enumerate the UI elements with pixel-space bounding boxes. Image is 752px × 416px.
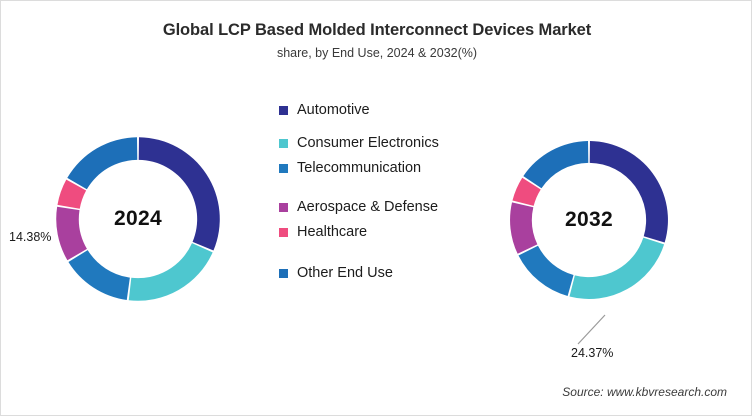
legend-swatch-icon: [279, 164, 288, 173]
legend-swatch-icon: [279, 269, 288, 278]
legend-swatch-icon: [279, 203, 288, 212]
legend-item[interactable]: Consumer Electronics: [279, 134, 469, 153]
donut-slice-telecommunication[interactable]: [68, 250, 129, 300]
legend-item[interactable]: Other End Use: [279, 264, 469, 283]
legend-item[interactable]: Automotive: [279, 101, 469, 120]
legend-item-label: Aerospace & Defense: [297, 198, 438, 217]
donut-2024-slices[interactable]: [56, 137, 220, 301]
legend-item[interactable]: Telecommunication: [279, 159, 469, 178]
donut-2024-value-label: 14.38%: [9, 230, 51, 244]
title-block: Global LCP Based Molded Interconnect Dev…: [1, 19, 752, 62]
legend-item-label: Telecommunication: [297, 159, 421, 178]
donut-slice-automotive[interactable]: [590, 141, 668, 242]
donut-slice-other-end-use[interactable]: [523, 141, 588, 188]
page-title: Global LCP Based Molded Interconnect Dev…: [1, 19, 752, 41]
chart-canvas: Global LCP Based Molded Interconnect Dev…: [0, 0, 752, 416]
donut-slice-automotive[interactable]: [139, 137, 220, 250]
legend-item[interactable]: Healthcare: [279, 223, 469, 242]
legend-swatch-icon: [279, 228, 288, 237]
donut-chart-2032[interactable]: 2032: [505, 127, 673, 313]
donut-2032-value-label: 24.37%: [571, 346, 613, 360]
donut-2024-svg: [51, 121, 225, 317]
donut-slice-aerospace-defense[interactable]: [56, 207, 87, 261]
page-subtitle: share, by End Use, 2024 & 2032(%): [1, 44, 752, 62]
legend-swatch-icon: [279, 139, 288, 148]
legend-item-label: Other End Use: [297, 264, 393, 283]
donut-slice-consumer-electronics[interactable]: [129, 243, 213, 301]
legend-item-label: Consumer Electronics: [297, 134, 439, 153]
legend-item-label: Healthcare: [297, 223, 367, 242]
donut-slice-other-end-use[interactable]: [67, 137, 137, 189]
legend-item[interactable]: Aerospace & Defense: [279, 198, 469, 217]
donut-slice-telecommunication[interactable]: [518, 246, 573, 296]
source-note: Source: www.kbvresearch.com: [562, 385, 727, 399]
donut-chart-2024[interactable]: 2024: [51, 121, 225, 317]
legend-item-label: Automotive: [297, 101, 370, 120]
donut-2032-leader-line: [561, 311, 621, 351]
donut-2032-svg: [505, 127, 673, 313]
donut-slice-aerospace-defense[interactable]: [510, 202, 537, 253]
donut-2032-slices[interactable]: [510, 141, 668, 299]
legend-swatch-icon: [279, 106, 288, 115]
legend: AutomotiveConsumer ElectronicsTelecommun…: [279, 101, 469, 297]
donut-slice-consumer-electronics[interactable]: [569, 238, 664, 299]
